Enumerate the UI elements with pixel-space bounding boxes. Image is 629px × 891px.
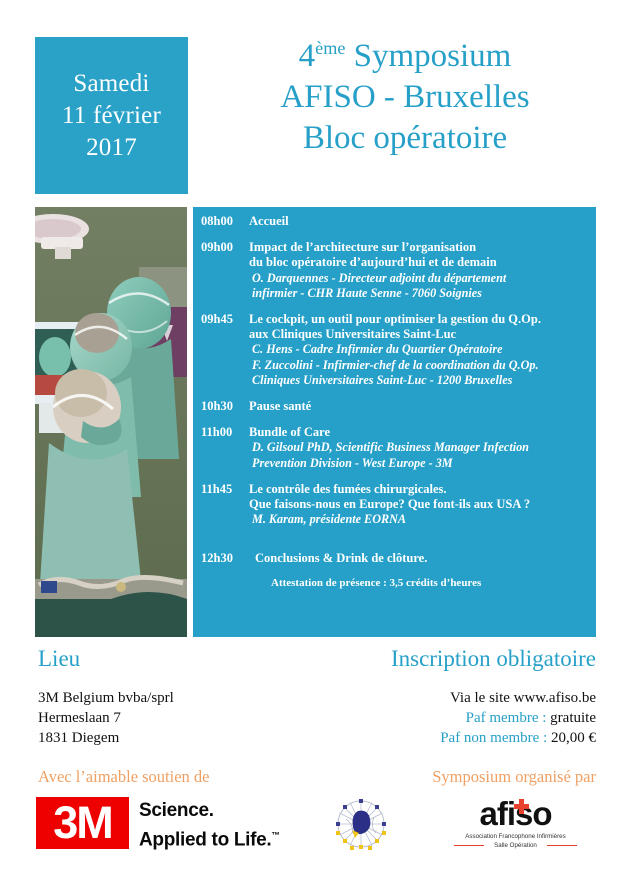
programme-slot: 12h30 Conclusions & Drink de clôture. bbox=[193, 551, 596, 566]
slot-title-line: Pause santé bbox=[249, 399, 590, 414]
inscription-details: Via le site www.afiso.be Paf membre : gr… bbox=[440, 688, 596, 748]
title-line-3: Bloc opératoire bbox=[205, 118, 605, 159]
slot-time: 09h00 bbox=[193, 240, 249, 301]
afiso-logo-sub-line-2: Salle Opération bbox=[448, 842, 583, 850]
slot-title-line: Impact de l’architecture sur l’organisat… bbox=[249, 240, 590, 255]
inscription-heading: Inscription obligatoire bbox=[391, 645, 596, 673]
programme-slot: 09h00 Impact de l’architecture sur l’org… bbox=[193, 240, 596, 301]
lieu-address-line: Hermeslaan 7 bbox=[38, 708, 174, 728]
programme-slot: 11h00 Bundle of Care D. Gilsoul PhD, Sci… bbox=[193, 425, 596, 471]
slot-title-line: Le cockpit, un outil pour optimiser la g… bbox=[249, 312, 590, 327]
fee-member-row: Paf membre : gratuite bbox=[440, 708, 596, 728]
slot-body: Bundle of Care D. Gilsoul PhD, Scientifi… bbox=[249, 425, 596, 471]
lieu-address: 3M Belgium bvba/sprl Hermeslaan 7 1831 D… bbox=[38, 688, 174, 748]
3m-tagline-line-2-text: Applied to Life. bbox=[139, 829, 271, 850]
slot-speaker-line: C. Hens - Cadre Infirmier du Quartier Op… bbox=[249, 342, 590, 357]
title-line-1-rest: Symposium bbox=[345, 38, 511, 74]
slot-speaker-line: infirmier - CHR Haute Senne - 7060 Soign… bbox=[249, 286, 590, 301]
slot-speaker-line: Prevention Division - West Europe - 3M bbox=[249, 456, 590, 471]
poster-root: Samedi 11 février 2017 4ème Symposium AF… bbox=[0, 0, 629, 891]
page-title: 4ème Symposium AFISO - Bruxelles Bloc op… bbox=[205, 36, 605, 159]
3m-tagline-line-2: Applied to Life.™ bbox=[139, 823, 280, 852]
fee-member-value: gratuite bbox=[550, 710, 596, 726]
programme-slot: 10h30 Pause santé bbox=[193, 399, 596, 414]
lieu-address-line: 3M Belgium bvba/sprl bbox=[38, 688, 174, 708]
sponsor-organiser-caption: Symposium organisé par bbox=[432, 766, 596, 787]
slot-body: Pause santé bbox=[249, 399, 596, 414]
slot-body: Conclusions & Drink de clôture. bbox=[249, 551, 596, 566]
title-line-2: AFISO - Bruxelles bbox=[205, 77, 605, 118]
operating-room-photo bbox=[35, 207, 187, 637]
fee-nonmember-label: Paf non membre : bbox=[440, 730, 551, 746]
slot-title-line: Le contrôle des fumées chirurgicales. bbox=[249, 482, 590, 497]
programme-slot: 11h45 Le contrôle des fumées chirurgical… bbox=[193, 482, 596, 528]
slot-speaker-line: M. Karam, présidente EORNA bbox=[249, 512, 590, 527]
slot-time: 08h00 bbox=[193, 214, 249, 229]
slot-title-line: Que faisons-nous en Europe? Que font-ils… bbox=[249, 497, 590, 512]
slot-title-line: Accueil bbox=[249, 214, 590, 229]
programme-list: 08h00 Accueil 09h00 Impact de l’architec… bbox=[193, 214, 596, 590]
slot-time: 09h45 bbox=[193, 312, 249, 388]
lieu-address-line: 1831 Diegem bbox=[38, 728, 174, 748]
programme-panel: 08h00 Accueil 09h00 Impact de l’architec… bbox=[193, 207, 596, 637]
afiso-logo-sub-line-1: Association Francophone Infirmières bbox=[448, 833, 583, 841]
slot-speaker-line: Cliniques Universitaires Saint-Luc - 120… bbox=[249, 373, 590, 388]
slot-body: Impact de l’architecture sur l’organisat… bbox=[249, 240, 596, 301]
title-ordinal-suffix: ème bbox=[315, 38, 345, 58]
title-ordinal-number: 4 bbox=[299, 38, 316, 74]
event-date-box: Samedi 11 février 2017 bbox=[35, 37, 188, 194]
slot-body: Le cockpit, un outil pour optimiser la g… bbox=[249, 312, 596, 388]
slot-time: 10h30 bbox=[193, 399, 249, 414]
compass-network-logo bbox=[330, 797, 392, 855]
3m-logo-tagline: Science. Applied to Life.™ bbox=[139, 798, 280, 852]
slot-body: Le contrôle des fumées chirurgicales. Qu… bbox=[249, 482, 596, 528]
slot-title-line: Bundle of Care bbox=[249, 425, 590, 440]
attestation-note: Attestation de présence : 3,5 crédits d’… bbox=[193, 576, 596, 590]
date-line-year: 2017 bbox=[86, 132, 137, 164]
slot-speaker-line: D. Gilsoul PhD, Scientific Business Mana… bbox=[249, 440, 590, 455]
slot-speaker-line: F. Zuccolini - Infirmier-chef de la coor… bbox=[249, 358, 590, 373]
afiso-logo: afiso Association Francophone Infirmière… bbox=[448, 797, 583, 855]
slot-time: 11h45 bbox=[193, 482, 249, 528]
trademark-icon: ™ bbox=[271, 830, 279, 840]
fee-member-label: Paf membre : bbox=[466, 710, 551, 726]
slot-body: Accueil bbox=[249, 214, 596, 229]
3m-logo: 3M Science. Applied to Life.™ bbox=[36, 797, 301, 849]
title-line-1: 4ème Symposium bbox=[205, 36, 605, 77]
slot-title-line: aux Cliniques Universitaires Saint-Luc bbox=[249, 327, 590, 342]
inscription-website-line[interactable]: Via le site www.afiso.be bbox=[440, 688, 596, 708]
sponsor-support-caption: Avec l’aimable soutien de bbox=[38, 766, 210, 787]
slot-time: 11h00 bbox=[193, 425, 249, 471]
slot-speaker-line: O. Darquennes - Directeur adjoint du dép… bbox=[249, 271, 590, 286]
lieu-heading: Lieu bbox=[38, 645, 80, 673]
programme-slot: 08h00 Accueil bbox=[193, 214, 596, 229]
programme-slot: 09h45 Le cockpit, un outil pour optimise… bbox=[193, 312, 596, 388]
medical-cross-icon bbox=[514, 799, 529, 814]
date-line-day-month: 11 février bbox=[62, 100, 161, 132]
slot-title-line: du bloc opératoire d’aujourd’hui et de d… bbox=[249, 255, 590, 270]
date-line-weekday: Samedi bbox=[73, 68, 149, 100]
slot-time: 12h30 bbox=[193, 551, 249, 566]
fee-nonmember-row: Paf non membre : 20,00 € bbox=[440, 728, 596, 748]
slot-title-line: Conclusions & Drink de clôture. bbox=[249, 551, 590, 566]
fee-nonmember-value: 20,00 € bbox=[551, 730, 596, 746]
3m-tagline-line-1: Science. bbox=[139, 798, 280, 823]
3m-logo-mark: 3M bbox=[36, 797, 129, 849]
